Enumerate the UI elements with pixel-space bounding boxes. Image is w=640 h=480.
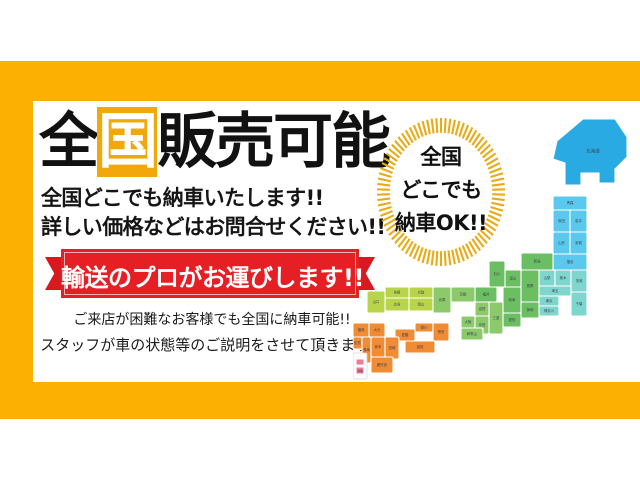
ribbon-body: 輸送のプロがお運びします!! [61,249,359,298]
svg-text:三重: 三重 [493,315,500,320]
svg-text:高知: 高知 [417,344,424,349]
svg-text:神奈川: 神奈川 [544,308,555,313]
svg-text:東京: 東京 [546,298,553,303]
svg-text:秋田: 秋田 [558,218,565,223]
svg-text:大阪: 大阪 [465,319,472,324]
svg-text:長野: 長野 [527,283,534,288]
subheading-line-2: 詳しい価格などはお問合せください!! [41,211,385,241]
ribbon-banner: 輸送のプロがお運びします!! [45,249,375,298]
svg-text:青森: 青森 [567,200,574,205]
svg-text:京都: 京都 [460,292,467,297]
svg-text:鹿児島: 鹿児島 [377,362,388,367]
headline-part-before: 全 [39,107,97,177]
svg-text:茨城: 茨城 [576,278,583,283]
svg-text:北海道: 北海道 [586,148,600,155]
svg-text:滋賀: 滋賀 [479,306,486,311]
svg-text:富山: 富山 [510,276,517,281]
svg-text:宮崎: 宮崎 [389,345,396,350]
svg-text:福島: 福島 [567,259,574,264]
promotional-banner: 全国販売可能 全国どこでも納車いたします!! 詳しい価格などはお問合せください!… [0,0,640,480]
japan-map-svg: 北海道青森秋田岩手山形宮城福島新潟富山石川福井長野岐阜山梨栃木茨城埼玉東京千葉神… [353,101,640,382]
svg-text:千葉: 千葉 [576,301,583,306]
svg-text:岐阜: 岐阜 [509,297,516,302]
svg-text:広島: 広島 [394,302,401,307]
svg-text:山口: 山口 [373,299,380,304]
headline-highlight-kanji: 国 [97,107,157,177]
svg-text:栃木: 栃木 [560,275,567,280]
text-column: 全国販売可能 全国どこでも納車いたします!! 詳しい価格などはお問合せください!… [33,101,393,382]
svg-text:香川: 香川 [421,325,428,330]
svg-text:山梨: 山梨 [544,275,551,280]
subheading-line-1: 全国どこでも納車いたします!! [41,182,324,212]
svg-text:沖縄: 沖縄 [357,369,363,373]
svg-text:愛知: 愛知 [509,317,516,322]
japan-map: 北海道青森秋田岩手山形宮城福島新潟富山石川福井長野岐阜山梨栃木茨城埼玉東京千葉神… [353,101,640,382]
note-line-2: スタッフが車の状態等のご説明をさせて頂きます。 [33,334,391,355]
svg-text:愛媛: 愛媛 [402,332,409,337]
ribbon-label: 輸送のプロがお運びします!! [61,258,359,293]
svg-text:大分: 大分 [374,327,381,332]
svg-text:和歌山: 和歌山 [467,331,478,336]
svg-text:岡山: 岡山 [418,302,425,307]
svg-text:静岡: 静岡 [527,307,534,312]
svg-text:兵庫: 兵庫 [439,297,446,302]
svg-text:佐賀: 佐賀 [354,340,361,345]
svg-text:山形: 山形 [558,240,565,245]
svg-text:福岡: 福岡 [358,327,365,332]
svg-text:長崎: 長崎 [363,347,370,352]
banner-card: 全国販売可能 全国どこでも納車いたします!! 詳しい価格などはお問合せください!… [33,101,640,382]
svg-text:石川: 石川 [494,272,501,276]
svg-text:新潟: 新潟 [534,259,541,264]
svg-text:奈良: 奈良 [479,322,486,327]
svg-text:鳥取: 鳥取 [418,290,425,295]
svg-text:岩手: 岩手 [575,218,582,223]
svg-text:徳島: 徳島 [438,329,445,334]
svg-text:熊本: 熊本 [375,344,382,349]
svg-text:島根: 島根 [394,290,401,295]
page-title: 全国販売可能 [39,111,389,173]
svg-text:埼玉: 埼玉 [552,288,559,293]
svg-text:宮城: 宮城 [575,240,582,245]
svg-text:福井: 福井 [483,292,490,297]
note-line-1: ご来店が困難なお客様でも全国に納車可能!! [33,309,391,329]
amber-frame-border: 全国販売可能 全国どこでも納車いたします!! 詳しい価格などはお問合せください!… [0,61,640,419]
